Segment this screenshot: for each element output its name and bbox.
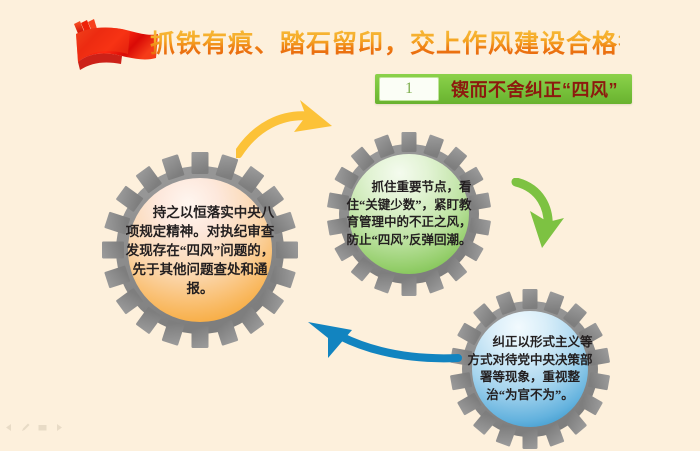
- section-number-badge: 1: [379, 77, 439, 101]
- curved-arrow-left-icon: [292, 308, 464, 380]
- gear-card-top[interactable]: 抓住重要节点，看住“关键少数”，紧盯教育管理中的不正之风，防止“四风”反弹回潮。: [325, 130, 493, 298]
- page-title: 抓铁有痕、踏石留印，交上作风建设合格答卷: [150, 24, 620, 64]
- gear-card-bottom[interactable]: 纠正以形式主义等方式对待党中央决策部署等现象，重视整治“为官不为”。: [448, 287, 612, 451]
- nav-next-icon[interactable]: [54, 420, 65, 431]
- section-heading-chip[interactable]: 1 锲而不舍纠正“四风”: [375, 74, 632, 104]
- curved-arrow-down-icon: [502, 178, 588, 286]
- nav-slide-icon[interactable]: [37, 420, 48, 431]
- red-flag-icon: [68, 18, 160, 74]
- gear-card-left[interactable]: 持之以恒落实中央八项规定精神。对执纪审查发现存在“四风”问题的，先于其他问题查处…: [100, 150, 300, 350]
- nav-previous-icon[interactable]: [3, 420, 14, 431]
- nav-pen-icon[interactable]: [20, 420, 31, 431]
- slide-canvas: 抓铁有痕、踏石留印，交上作风建设合格答卷 1 锲而不舍纠正“四风”: [0, 0, 700, 436]
- slideshow-nav-bar[interactable]: [3, 418, 65, 432]
- section-heading-label: 锲而不舍纠正“四风”: [439, 74, 632, 104]
- curved-arrow-right-icon: [236, 96, 346, 158]
